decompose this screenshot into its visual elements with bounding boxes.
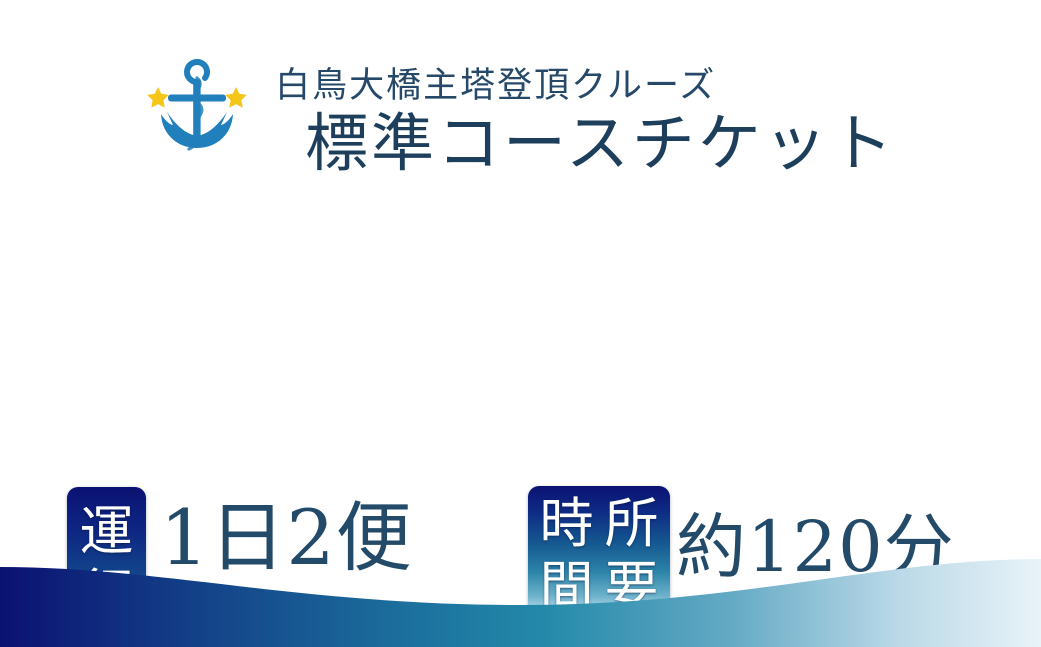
star-left-icon — [147, 87, 169, 108]
star-right-icon — [225, 87, 247, 108]
bottom-wave-divider — [0, 537, 1041, 647]
anchor-with-stars-icon — [145, 56, 249, 160]
page-title: 標準コースチケット — [305, 109, 896, 178]
subtitle: 白鳥大橋主塔登頂クルーズ — [275, 52, 716, 105]
header-row: 白鳥大橋主塔登頂クルーズ 標準コースチケット — [0, 52, 1041, 178]
card-header: 白鳥大橋主塔登頂クルーズ 標準コースチケット — [0, 52, 1041, 178]
ticket-card: 白鳥大橋主塔登頂クルーズ 標準コースチケット 運 行 時 刻 1日2便 午前：1… — [0, 0, 1041, 647]
info-section: 運 行 時 刻 1日2便 午前：10:00発 午後：14:00発 所 時 要 間… — [0, 240, 1041, 540]
